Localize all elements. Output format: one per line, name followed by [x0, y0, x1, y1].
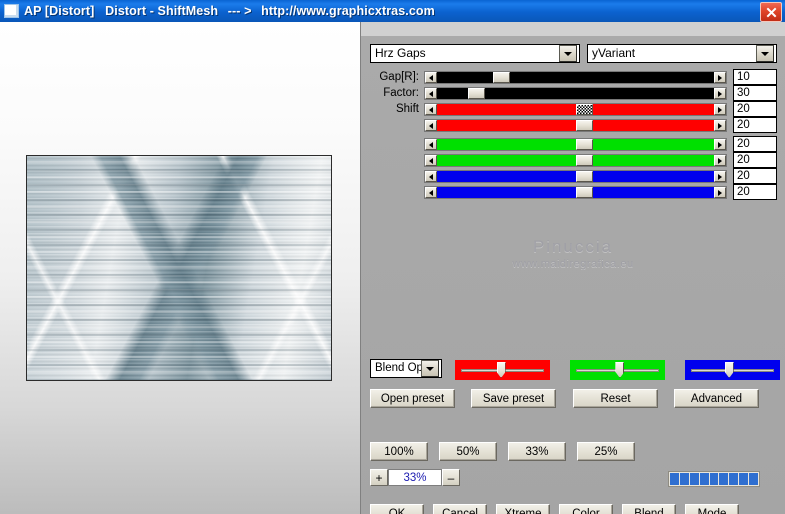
progress-segment: [749, 473, 758, 485]
slider-track-8[interactable]: [437, 187, 714, 198]
red-slider[interactable]: [455, 360, 550, 380]
zoom-value: 33%: [388, 469, 442, 486]
zoom-decrease-button[interactable]: –: [442, 469, 460, 486]
progress-segment: [739, 473, 748, 485]
slider-left-arrow-icon-2[interactable]: [425, 88, 437, 99]
progress-segment: [680, 473, 689, 485]
watermark: Pinuccia www.maidiregrafica.eu: [361, 237, 785, 271]
chevron-down-icon[interactable]: [756, 45, 774, 62]
slider-track-container-4[interactable]: [424, 119, 727, 132]
slider-thumb-5[interactable]: [576, 139, 593, 150]
slider-track-4[interactable]: [437, 120, 714, 131]
progress-segment: [710, 473, 719, 485]
slider-right-arrow-icon-5[interactable]: [714, 139, 726, 150]
slider-value-4[interactable]: 20: [733, 117, 777, 133]
slider-thumb-7[interactable]: [576, 171, 593, 182]
window-icon: [4, 4, 19, 18]
slider-left-arrow-icon-3[interactable]: [425, 104, 437, 115]
slider-row-8[interactable]: [424, 186, 727, 199]
slider-left-arrow-icon-4[interactable]: [425, 120, 437, 131]
slider-label-2: Factor:: [383, 87, 424, 100]
slider-value-2[interactable]: 30: [733, 85, 777, 101]
green-slider-thumb[interactable]: [615, 362, 624, 378]
progress-segment: [729, 473, 738, 485]
slider-left-arrow-icon-7[interactable]: [425, 171, 437, 182]
progress-indicator: [668, 471, 760, 487]
slider-value-7[interactable]: 20: [733, 168, 777, 184]
mode-dropdown-value: Hrz Gaps: [371, 45, 559, 62]
blend-options-value: Blend Opti: [371, 360, 421, 377]
blend-button[interactable]: Blend: [622, 504, 676, 514]
slider-left-arrow-icon-5[interactable]: [425, 139, 437, 150]
title-separator: --- >: [222, 4, 258, 18]
green-slider[interactable]: [570, 360, 665, 380]
image-preview[interactable]: [26, 155, 332, 381]
slider-row-6[interactable]: [424, 154, 727, 167]
slider-row-3[interactable]: Shift: [424, 103, 727, 116]
slider-track-5[interactable]: [437, 139, 714, 150]
slider-row-2[interactable]: Factor:: [424, 87, 727, 100]
window-title: AP [Distort] Distort - ShiftMesh --- > h…: [24, 4, 435, 18]
color-button[interactable]: Color: [559, 504, 613, 514]
watermark-title: Pinuccia: [361, 237, 785, 257]
close-icon: [766, 7, 777, 18]
advanced-button[interactable]: Advanced: [674, 389, 759, 408]
slider-track-container-1[interactable]: [424, 71, 727, 84]
red-slider-thumb[interactable]: [497, 362, 506, 378]
progress-segment: [700, 473, 709, 485]
watermark-url: www.maidiregrafica.eu: [361, 257, 785, 271]
open-preset-button[interactable]: Open preset: [370, 389, 455, 408]
slider-track-container-7[interactable]: [424, 170, 727, 183]
blue-slider-thumb[interactable]: [725, 362, 734, 378]
slider-left-arrow-icon-1[interactable]: [425, 72, 437, 83]
zoom-stepper[interactable]: + 33% –: [370, 468, 460, 487]
progress-segment: [719, 473, 728, 485]
slider-track-6[interactable]: [437, 155, 714, 166]
slider-track-7[interactable]: [437, 171, 714, 182]
slider-row-1[interactable]: Gap[R]:: [424, 71, 727, 84]
slider-right-arrow-icon-8[interactable]: [714, 187, 726, 198]
zoom-33-button[interactable]: 33%: [508, 442, 566, 461]
mode-dropdown[interactable]: Hrz Gaps: [370, 44, 580, 63]
reset-button[interactable]: Reset: [573, 389, 658, 408]
plugin-window: AP [Distort] Distort - ShiftMesh --- > h…: [0, 0, 785, 514]
zoom-100-button[interactable]: 100%: [370, 442, 428, 461]
zoom-25-button[interactable]: 25%: [577, 442, 635, 461]
blend-options-dropdown[interactable]: Blend Opti: [370, 359, 442, 378]
slider-track-1[interactable]: [437, 72, 714, 83]
slider-track-container-3[interactable]: [424, 103, 727, 116]
slider-track-container-2[interactable]: [424, 87, 727, 100]
title-app: AP [Distort]: [24, 4, 94, 18]
slider-right-arrow-icon-2[interactable]: [714, 88, 726, 99]
slider-track-container-5[interactable]: [424, 138, 727, 151]
slider-label-1: Gap[R]:: [379, 71, 424, 84]
mode-button[interactable]: Mode: [685, 504, 739, 514]
slider-track-2[interactable]: [437, 88, 714, 99]
slider-label-3: Shift: [396, 103, 424, 116]
slider-value-1[interactable]: 10: [733, 69, 777, 85]
slider-thumb-6[interactable]: [576, 155, 593, 166]
title-plugin: Distort - ShiftMesh: [105, 4, 218, 18]
slider-thumb-4[interactable]: [576, 120, 593, 131]
slider-thumb-3[interactable]: [576, 104, 593, 115]
control-pane: Hrz Gaps yVariant Gap[R]:Factor:Shift Pi…: [361, 22, 785, 514]
chevron-down-icon[interactable]: [421, 360, 439, 377]
slider-right-arrow-icon-6[interactable]: [714, 155, 726, 166]
zoom-50-button[interactable]: 50%: [439, 442, 497, 461]
slider-thumb-1[interactable]: [493, 72, 510, 83]
slider-thumb-8[interactable]: [576, 187, 593, 198]
ok-button[interactable]: OK: [370, 504, 424, 514]
zoom-increase-button[interactable]: +: [370, 469, 388, 486]
slider-row-4[interactable]: [424, 119, 727, 132]
slider-track-container-8[interactable]: [424, 186, 727, 199]
xtreme-button[interactable]: Xtreme: [496, 504, 550, 514]
slider-value-8[interactable]: 20: [733, 184, 777, 200]
slider-track-container-6[interactable]: [424, 154, 727, 167]
slider-value-3[interactable]: 20: [733, 101, 777, 117]
slider-thumb-2[interactable]: [468, 88, 485, 99]
title-bar: AP [Distort] Distort - ShiftMesh --- > h…: [0, 0, 785, 22]
slider-left-arrow-icon-6[interactable]: [425, 155, 437, 166]
variant-dropdown-value: yVariant: [588, 45, 756, 62]
progress-segment: [690, 473, 699, 485]
slider-row-5[interactable]: [424, 138, 727, 151]
save-preset-button[interactable]: Save preset: [471, 389, 556, 408]
slider-value-5[interactable]: 20: [733, 136, 777, 152]
preview-canvas: [27, 156, 331, 380]
blue-slider[interactable]: [685, 360, 780, 380]
slider-value-6[interactable]: 20: [733, 152, 777, 168]
slider-track-3[interactable]: [437, 104, 714, 115]
slider-right-arrow-icon-1[interactable]: [714, 72, 726, 83]
slider-right-arrow-icon-3[interactable]: [714, 104, 726, 115]
close-button[interactable]: [760, 2, 782, 22]
slider-row-7[interactable]: [424, 170, 727, 183]
preview-pane: [0, 22, 360, 514]
preview-vignette: [27, 156, 331, 380]
slider-left-arrow-icon-8[interactable]: [425, 187, 437, 198]
control-pane-top-strip: [361, 22, 785, 36]
title-url: http://www.graphicxtras.com: [261, 4, 435, 18]
slider-right-arrow-icon-7[interactable]: [714, 171, 726, 182]
progress-segment: [670, 473, 679, 485]
variant-dropdown[interactable]: yVariant: [587, 44, 777, 63]
chevron-down-icon[interactable]: [559, 45, 577, 62]
cancel-button[interactable]: Cancel: [433, 504, 487, 514]
slider-right-arrow-icon-4[interactable]: [714, 120, 726, 131]
